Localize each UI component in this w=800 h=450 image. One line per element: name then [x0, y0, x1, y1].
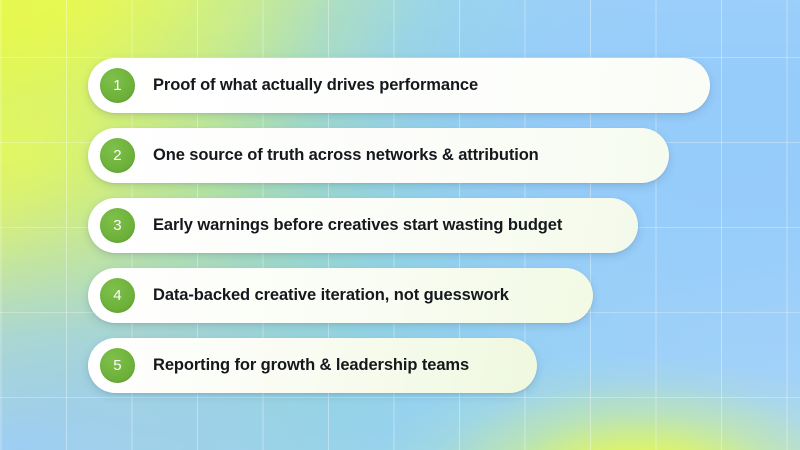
numbered-benefits-list: 1 Proof of what actually drives performa…	[88, 58, 748, 393]
list-item[interactable]: 4 Data-backed creative iteration, not gu…	[88, 268, 593, 323]
list-item-label: Proof of what actually drives performanc…	[153, 76, 478, 95]
list-item-number-badge: 1	[100, 68, 135, 103]
list-item-number-badge: 4	[100, 278, 135, 313]
list-item[interactable]: 3 Early warnings before creatives start …	[88, 198, 638, 253]
list-item-number-badge: 3	[100, 208, 135, 243]
list-item-label: Data-backed creative iteration, not gues…	[153, 286, 509, 305]
slide-canvas: 1 Proof of what actually drives performa…	[0, 0, 800, 450]
list-item-label: One source of truth across networks & at…	[153, 146, 539, 165]
list-item[interactable]: 5 Reporting for growth & leadership team…	[88, 338, 537, 393]
list-item[interactable]: 2 One source of truth across networks & …	[88, 128, 669, 183]
list-item-number-badge: 2	[100, 138, 135, 173]
list-item-label: Early warnings before creatives start wa…	[153, 216, 562, 235]
list-item-number-badge: 5	[100, 348, 135, 383]
list-item[interactable]: 1 Proof of what actually drives performa…	[88, 58, 710, 113]
list-item-label: Reporting for growth & leadership teams	[153, 356, 469, 375]
